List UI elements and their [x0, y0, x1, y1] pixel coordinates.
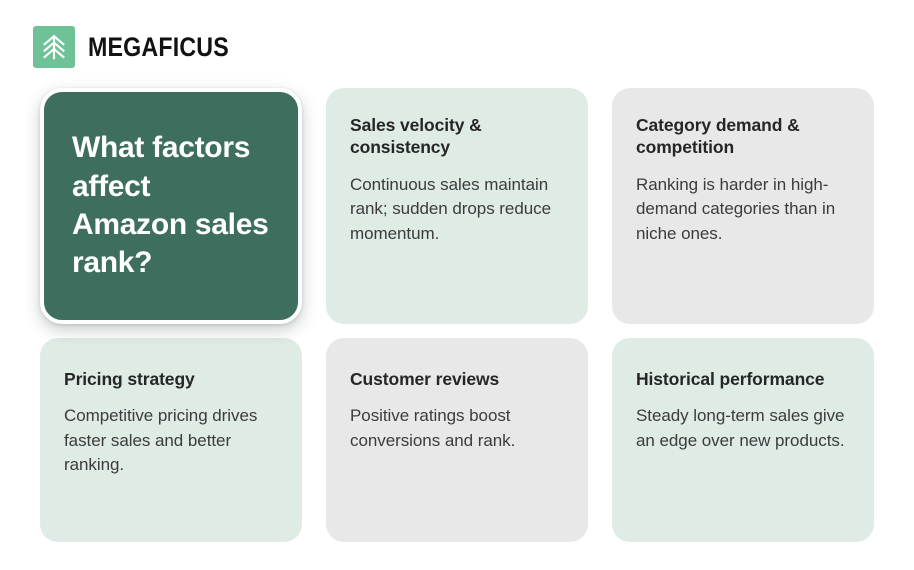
card-category-demand: Category demand & competition Ranking is…: [612, 88, 874, 324]
brand-name: MEGAFICUS: [88, 34, 229, 61]
card-title: Category demand & competition: [636, 114, 850, 159]
card-customer-reviews: Customer reviews Positive ratings boost …: [326, 338, 588, 542]
card-title: Pricing strategy: [64, 368, 278, 390]
brand-header: MEGAFICUS: [33, 25, 252, 69]
card-body: Positive ratings boost conversions and r…: [350, 404, 564, 453]
card-title: Sales velocity & consistency: [350, 114, 564, 159]
card-title: Customer reviews: [350, 368, 564, 390]
card-pricing-strategy: Pricing strategy Competitive pricing dri…: [40, 338, 302, 542]
card-historical-performance: Historical performance Steady long-term …: [612, 338, 874, 542]
card-feature-question: What factors affect Amazon sales rank?: [40, 88, 302, 324]
card-body: Steady long-term sales give an edge over…: [636, 404, 850, 453]
megaficus-logo-mark: [33, 26, 75, 68]
card-body: Ranking is harder in high-demand categor…: [636, 173, 850, 246]
card-body: Continuous sales maintain rank; sudden d…: [350, 173, 564, 246]
feature-question-text: What factors affect Amazon sales rank?: [72, 129, 270, 283]
card-body: Competitive pricing drives faster sales …: [64, 404, 278, 477]
factors-card-grid: What factors affect Amazon sales rank? S…: [40, 88, 874, 542]
card-title: Historical performance: [636, 368, 850, 390]
fir-tree-chevron-icon: [41, 33, 67, 61]
card-sales-velocity: Sales velocity & consistency Continuous …: [326, 88, 588, 324]
